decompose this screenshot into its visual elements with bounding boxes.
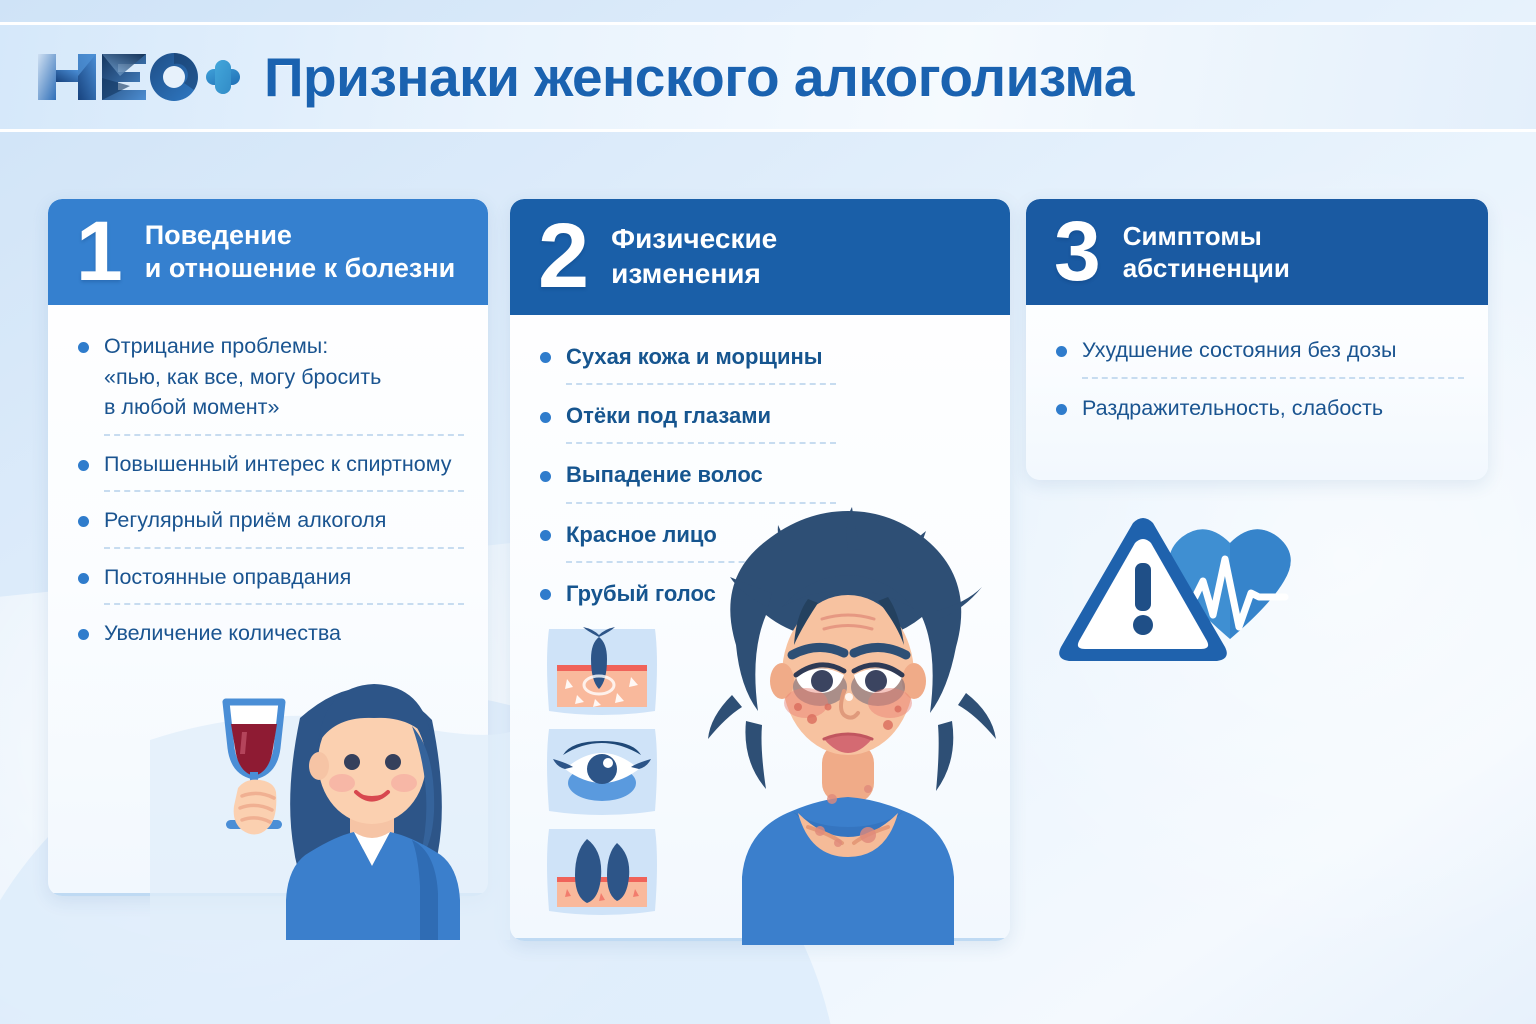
neo-plus-logo [34,46,242,108]
bullet-text: Отрицание проблемы: [104,334,328,358]
card-body-2: Сухая кожа и морщины Отёки под глазами В… [510,315,1010,609]
bullet-dot-icon [78,516,89,527]
list-item: Повышенный интерес к спиртному [74,449,464,493]
bullet-text: Сухая кожа и морщины [566,344,823,369]
bullet-separator [566,442,836,444]
list-item: Отрицание проблемы: «пью, как все, могу … [74,331,464,436]
bullet-dot-icon [78,573,89,584]
bullet-separator [566,502,836,504]
card-title-2: Физические изменения [611,222,777,291]
bullet-quote-line2: в любой момент» [104,392,464,423]
bullet-text: Ухудшение состояния без дозы [1082,338,1396,362]
bullet-text: Регулярный приём алкоголя [104,508,386,532]
card-title-1-line2: и отношение к болезни [145,252,456,285]
bullet-list-3: Ухудшение состояния без дозы Раздражител… [1052,335,1464,423]
infographic-poster: Признаки женского алкоголизма 1 Поведени… [0,0,1536,1024]
card-number-2: 2 [538,221,589,293]
bullet-text: Красное лицо [566,522,717,547]
bullet-text: Увеличение количества [104,621,341,645]
warning-and-heart-illustration [1055,505,1325,685]
card-header-2: 2 Физические изменения [510,199,1010,315]
card-title-3: Симптомы абстиненции [1123,220,1290,284]
bullet-text: Повышенный интерес к спиртному [104,452,451,476]
card-title-1-line1: Поведение [145,219,456,252]
list-item: Раздражительность, слабость [1052,393,1464,424]
bullet-separator [1082,377,1464,379]
list-item: Постоянные оправдания [74,562,464,606]
bullet-separator [566,561,836,563]
card-behaviour: 1 Поведение и отношение к болезни Отрица… [48,199,488,896]
bullet-dot-icon [540,471,551,482]
bullet-dot-icon [78,342,89,353]
bullet-text: Грубый голос [566,581,716,606]
bullet-quote-line1: «пью, как все, могу бросить [104,362,464,393]
warning-triangle-icon [1059,518,1227,661]
list-item: Ухудшение состояния без дозы [1052,335,1464,379]
list-item: Увеличение количества [74,618,464,649]
heartbeat-heart-icon [1169,529,1290,639]
bullet-text: Отёки под глазами [566,403,771,428]
card-body-3: Ухудшение состояния без дозы Раздражител… [1026,305,1488,423]
bullet-dot-icon [78,460,89,471]
bullet-dot-icon [540,412,551,423]
bullet-text: Выпадение волос [566,462,763,487]
list-item: Отёки под глазами [536,400,836,444]
bullet-dot-icon [540,589,551,600]
card-number-3: 3 [1054,219,1101,285]
bullet-text: Постоянные оправдания [104,565,351,589]
card-title-1: Поведение и отношение к болезни [145,219,456,286]
bullet-dot-icon [540,352,551,363]
bullet-dot-icon [1056,346,1067,357]
bullet-list-1: Отрицание проблемы: «пью, как все, могу … [74,331,464,649]
bullet-dot-icon [1056,404,1067,415]
bullet-text: Раздражительность, слабость [1082,396,1383,420]
list-item: Красное лицо [536,519,836,563]
card-header-1: 1 Поведение и отношение к болезни [48,199,488,305]
bullet-dot-icon [540,530,551,541]
card-title-3-line2: абстиненции [1123,252,1290,284]
list-item: Выпадение волос [536,459,836,503]
card-title-2-line1: Физические [611,222,777,257]
card-title-2-line2: изменения [611,257,777,292]
bullet-separator [566,383,836,385]
card-title-3-line1: Симптомы [1123,220,1290,252]
list-item: Сухая кожа и морщины [536,341,836,385]
bullet-separator [104,603,464,605]
card-number-1: 1 [76,219,123,285]
bullet-separator [104,490,464,492]
bullet-list-2: Сухая кожа и морщины Отёки под глазами В… [536,341,836,609]
card-1-ground-line [48,893,488,896]
card-body-1: Отрицание проблемы: «пью, как все, могу … [48,305,488,649]
card-header-3: 3 Симптомы абстиненции [1026,199,1488,305]
list-item: Регулярный приём алкоголя [74,505,464,549]
card-2-ground-line [510,938,1010,941]
bullet-dot-icon [78,629,89,640]
list-item: Грубый голос [536,578,836,609]
poster-header: Признаки женского алкоголизма [0,22,1536,132]
card-withdrawal-symptoms: 3 Симптомы абстиненции Ухудшение состоян… [1026,199,1488,480]
bullet-separator [104,547,464,549]
card-physical-changes: 2 Физические изменения Сухая кожа и морщ… [510,199,1010,941]
bullet-separator [104,434,464,436]
page-title: Признаки женского алкоголизма [264,45,1134,109]
